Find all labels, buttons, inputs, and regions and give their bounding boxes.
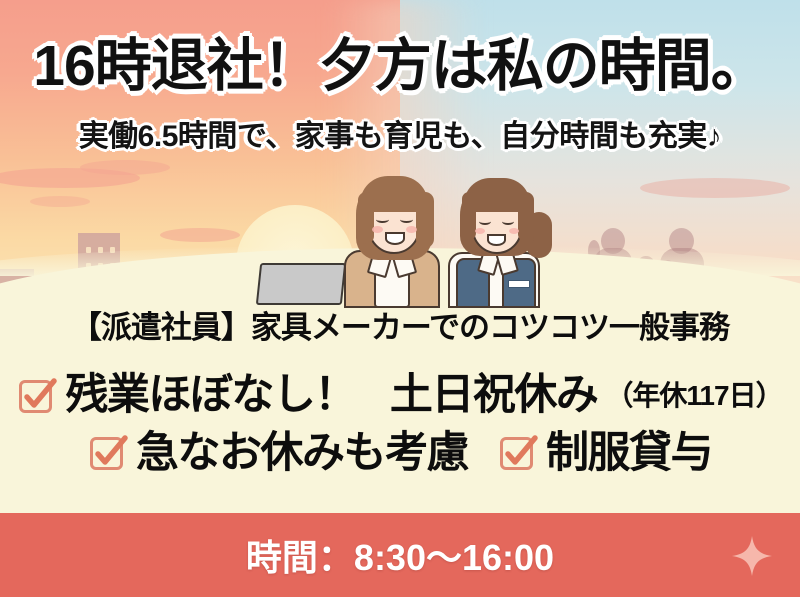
working-hours-label: 時間：8:30〜16:00 [0, 513, 800, 597]
benefits-list: 残業ほぼなし！ 土日祝休み （年休117日） 急なお休みも考慮 制服貸与 [0, 368, 800, 481]
name-tag-icon [508, 280, 530, 288]
benefit-main-text: 急なお休みも考慮 [136, 432, 468, 475]
benefit-row: 急なお休みも考慮 制服貸与 [0, 425, 800, 481]
benefit-note-text: （年休117日） [605, 382, 782, 410]
sparkle-icon [730, 534, 774, 578]
subheadline: 実働6.5時間で、家事も育児も、自分時間も充実♪ [0, 122, 800, 152]
footer-bar: 時間：8:30〜16:00 [0, 513, 800, 597]
benefit-main-text: 制服貸与 [546, 432, 712, 475]
checkbox-checked-icon [88, 433, 128, 473]
cloud-icon [80, 160, 170, 175]
job-title: 【派遣社員】家具メーカーでのコツコツ一般事務 [0, 312, 800, 343]
two-women-illustration [330, 158, 580, 303]
checkbox-checked-icon [17, 376, 57, 416]
job-ad-banner: 16時退社！夕方は私の時間。 実働6.5時間で、家事も育児も、自分時間も充実♪ … [0, 0, 800, 597]
benefit-main-text: 残業ほぼなし！ [65, 374, 356, 417]
headline: 16時退社！夕方は私の時間。 [0, 38, 800, 95]
checkbox-checked-icon [498, 433, 538, 473]
laptop-icon [256, 263, 346, 305]
benefit-second-text: 土日祝休み [390, 374, 598, 417]
benefit-row: 残業ほぼなし！ 土日祝休み （年休117日） [0, 368, 800, 423]
